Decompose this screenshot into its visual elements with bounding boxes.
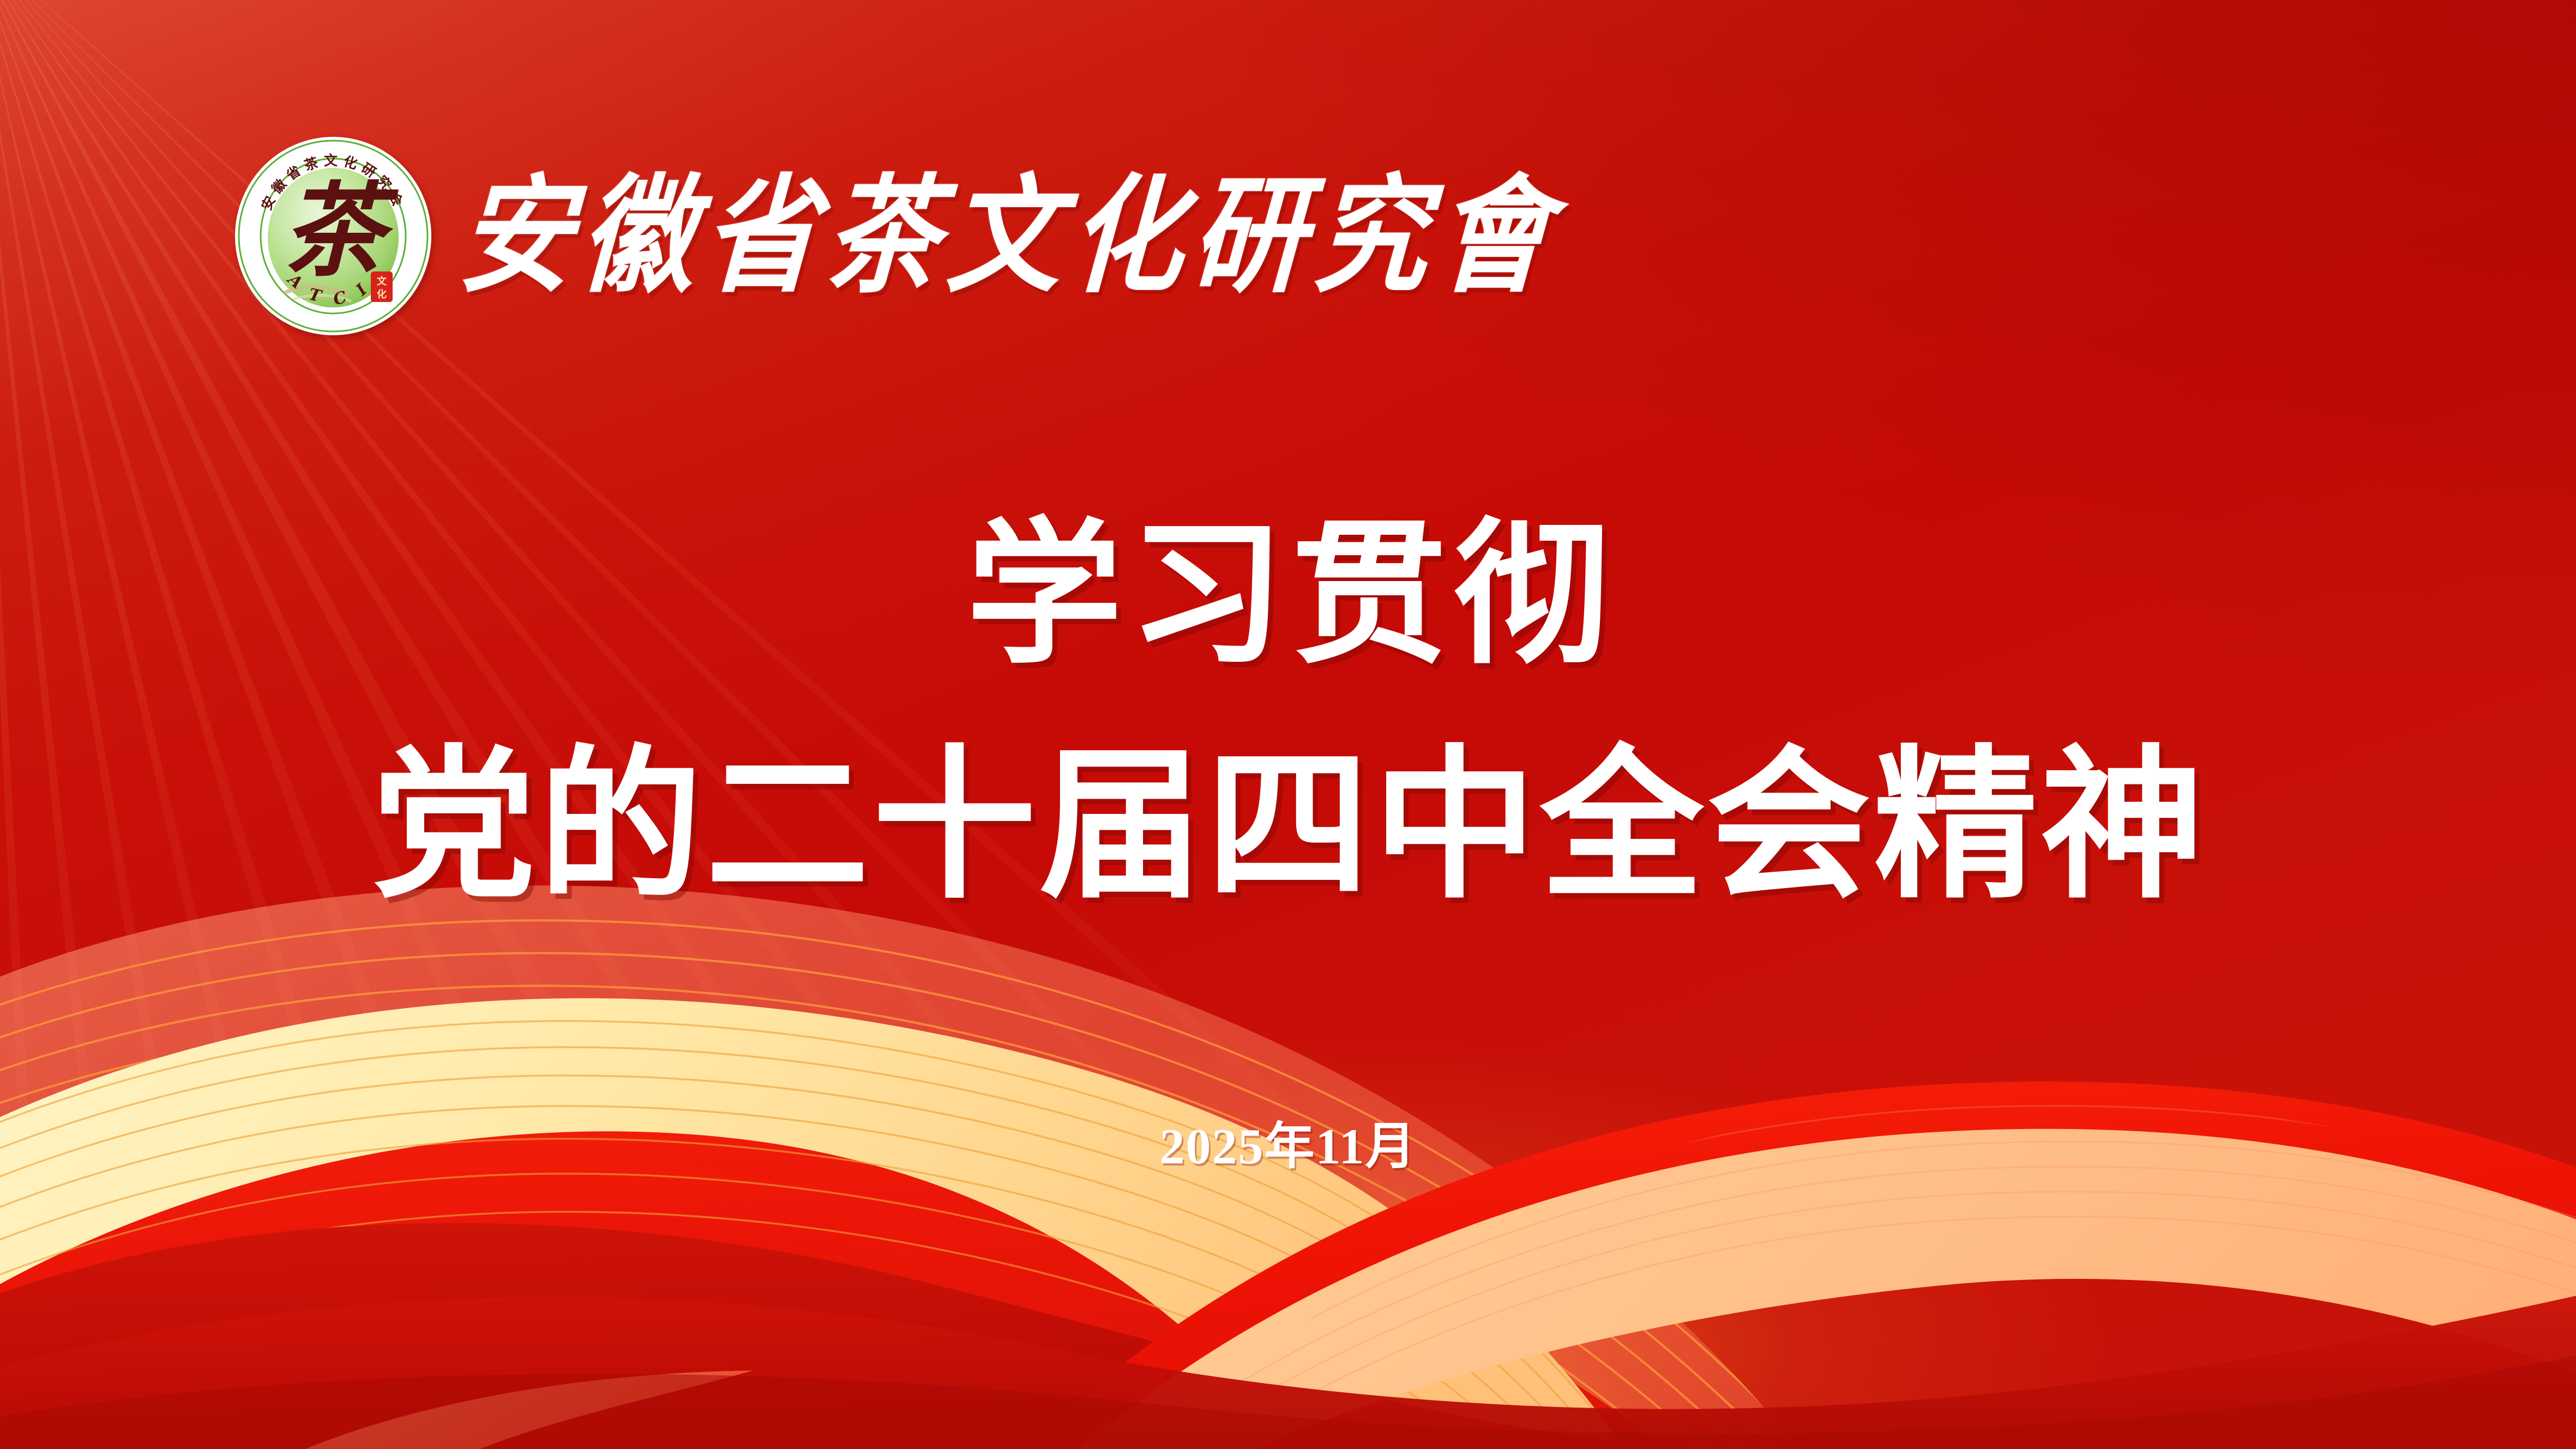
organization-name: 安徽省茶文化研究會 xyxy=(456,173,1562,300)
title-line-2: 党的二十届四中全会精神 xyxy=(0,734,2576,917)
page-title: 学习贯彻 党的二十届四中全会精神 xyxy=(0,507,2576,917)
atci-emblem-icon: 安徽省茶文化研究会 茶 文 化 ATCI xyxy=(233,136,433,336)
title-line-1: 学习贯彻 xyxy=(0,507,2576,681)
organization-header: 安徽省茶文化研究会 茶 文 化 ATCI xyxy=(233,136,1558,336)
poster-date: 2025年11月 xyxy=(0,1106,2576,1178)
svg-text:化: 化 xyxy=(377,288,387,300)
poster-canvas: 安徽省茶文化研究会 茶 文 化 ATCI xyxy=(0,0,2576,1449)
poster-content: 安徽省茶文化研究会 茶 文 化 ATCI xyxy=(0,0,2576,1449)
